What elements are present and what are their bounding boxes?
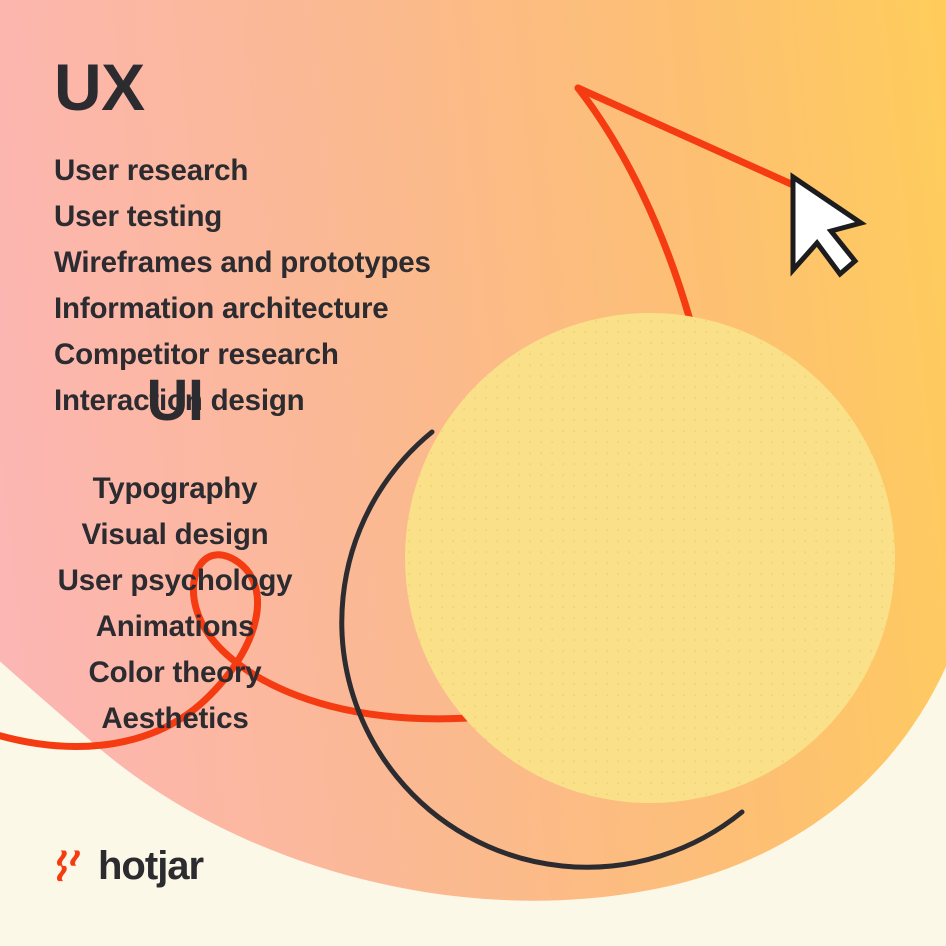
hotjar-flame-icon — [54, 849, 86, 883]
ui-skill-list: Typography Visual design User psychology… — [0, 466, 648, 742]
list-item: User testing — [54, 194, 431, 240]
list-item: Information architecture — [54, 286, 431, 332]
infographic-canvas: UX User research User testing Wireframes… — [0, 0, 946, 946]
ux-heading: UX — [54, 52, 145, 122]
list-item: Wireframes and prototypes — [54, 240, 431, 286]
hotjar-logo[interactable]: hotjar — [54, 846, 203, 886]
ui-heading: UI — [0, 370, 648, 432]
list-item: Visual design — [0, 512, 648, 558]
list-item: Color theory — [0, 650, 648, 696]
list-item: Animations — [0, 604, 648, 650]
hotjar-wordmark: hotjar — [98, 846, 203, 886]
list-item: Typography — [0, 466, 648, 512]
list-item: Aesthetics — [0, 696, 648, 742]
list-item: User psychology — [0, 558, 648, 604]
list-item: User research — [54, 148, 431, 194]
